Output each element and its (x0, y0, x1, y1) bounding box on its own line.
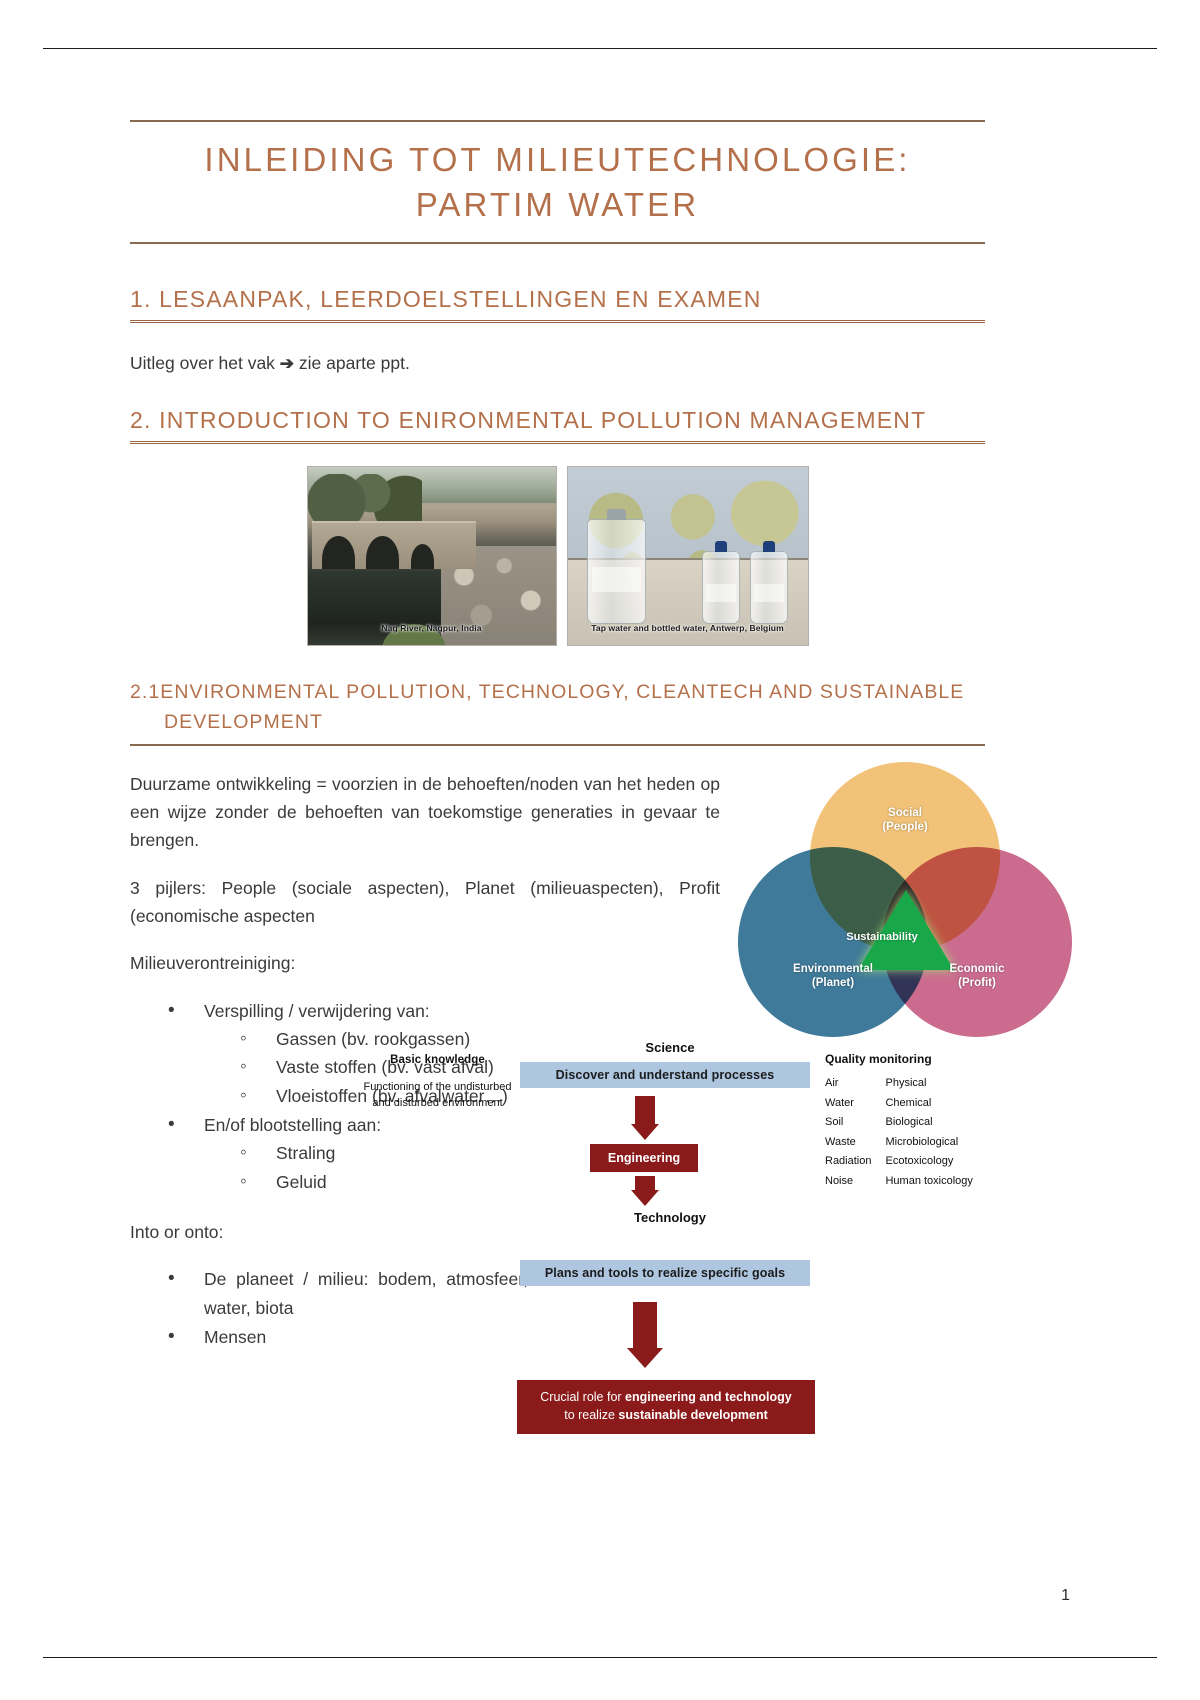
venn-label-social: Social (People) (848, 806, 962, 836)
figure-river: Nag River, Nagpur, India (307, 466, 557, 646)
table-cell-discipline: Microbiological (885, 1134, 986, 1154)
heading-section-2-1-line-2: DEVELOPMENT (130, 708, 985, 738)
page-title-line-2: PARTIM WATER (130, 183, 985, 228)
page-title: INLEIDING TOT MILIEUTECHNOLOGIE: PARTIM … (130, 138, 985, 228)
paragraph-section-1-post: zie aparte ppt. (294, 353, 410, 373)
table-cell-medium: Soil (825, 1114, 885, 1134)
paragraph-drie-pijlers: 3 pijlers: People (sociale aspecten), Pl… (130, 874, 720, 931)
technology-heading: Technology (600, 1210, 740, 1225)
bridge-arch (322, 536, 355, 569)
crucial-role-text-2: to realize (564, 1408, 618, 1422)
table-row: Water Chemical (825, 1095, 987, 1115)
venn-label-economic: Economic (Profit) (912, 962, 1042, 992)
table-cell-discipline: Chemical (885, 1095, 986, 1115)
heading-section-2-1-number: 2.1 (130, 681, 160, 703)
bridge-arch (366, 536, 399, 569)
table-cell-medium: Radiation (825, 1153, 885, 1173)
figure-bottles: Tap water and bottled water, Antwerp, Be… (567, 466, 809, 646)
document-page: INLEIDING TOT MILIEUTECHNOLOGIE: PARTIM … (0, 0, 1200, 1700)
heading-section-2-1: 2.1ENVIRONMENTAL POLLUTION, TECHNOLOGY, … (130, 678, 985, 745)
crucial-role-bold-2: sustainable development (618, 1408, 767, 1422)
table-cell-medium: Water (825, 1095, 885, 1115)
page-title-line-1: INLEIDING TOT MILIEUTECHNOLOGIE: (130, 138, 985, 183)
plastic-bottle (702, 551, 740, 624)
bottles-photo (568, 467, 808, 645)
table-row: Soil Biological (825, 1114, 987, 1134)
page-number: 1 (1061, 1587, 1070, 1605)
crucial-role-bold-1: engineering and technology (625, 1390, 792, 1404)
figure-caption-river: Nag River, Nagpur, India (308, 623, 556, 633)
quality-monitoring-body: Air Physical Water Chemical Soil Biologi… (825, 1075, 987, 1192)
venn-label-environmental-line2: (Planet) (754, 976, 912, 991)
right-arrow-icon: ➔ (280, 354, 294, 373)
heading-section-2: 2. INTRODUCTION TO ENIRONMENTAL POLLUTIO… (130, 407, 985, 444)
page-header-rule (43, 48, 1157, 49)
arrow-head (631, 1124, 659, 1140)
table-cell-medium: Noise (825, 1173, 885, 1193)
arrow-head (631, 1190, 659, 1206)
table-cell-discipline: Human toxicology (885, 1173, 986, 1193)
science-technology-flow-diagram: Basic knowledge Functioning of the undis… (355, 1040, 975, 1440)
bridge-arch (411, 544, 434, 569)
document-title-block: INLEIDING TOT MILIEUTECHNOLOGIE: PARTIM … (130, 120, 985, 244)
bottle-cap (607, 509, 625, 520)
bottle-label (754, 584, 784, 601)
arrow-head (627, 1348, 663, 1368)
venn-diagram-sustainability: Social (People) Environmental (Planet) E… (730, 762, 1080, 1037)
venn-label-environmental: Environmental (Planet) (754, 962, 912, 992)
table-row: Waste Microbiological (825, 1134, 987, 1154)
bottle-cap (715, 541, 727, 552)
arrow-shaft (635, 1096, 655, 1126)
basic-knowledge-heading: Basic knowledge (355, 1054, 520, 1066)
technology-plans-box: Plans and tools to realize specific goal… (520, 1260, 810, 1286)
bottle-cap (763, 541, 775, 552)
page-footer-rule (43, 1657, 1157, 1658)
table-cell-medium: Air (825, 1075, 885, 1095)
figure-caption-bottles: Tap water and bottled water, Antwerp, Be… (568, 623, 808, 633)
arrow-shaft (633, 1302, 657, 1352)
venn-label-economic-line2: (Profit) (912, 976, 1042, 991)
table-cell-medium: Waste (825, 1134, 885, 1154)
table-row: Noise Human toxicology (825, 1173, 987, 1193)
heading-section-2-1-line-1: ENVIRONMENTAL POLLUTION, TECHNOLOGY, CLE… (160, 681, 964, 703)
quality-monitoring-heading: Quality monitoring (825, 1052, 985, 1066)
paragraph-duurzame-ontwikkeling: Duurzame ontwikkeling = voorzien in de b… (130, 770, 720, 855)
figures-row: Nag River, Nagpur, India (130, 466, 985, 646)
table-cell-discipline: Biological (885, 1114, 986, 1134)
paragraph-section-1-pre: Uitleg over het vak (130, 353, 280, 373)
science-heading: Science (605, 1040, 735, 1055)
plastic-bottle (750, 551, 788, 624)
table-row: Radiation Ecotoxicology (825, 1153, 987, 1173)
venn-label-economic-line1: Economic (912, 962, 1042, 977)
basic-knowledge-description: Functioning of the undisturbed and distu… (355, 1080, 520, 1112)
bottle-label (592, 567, 640, 592)
engineering-box: Engineering (590, 1144, 698, 1172)
quality-monitoring-grid: Air Physical Water Chemical Soil Biologi… (825, 1075, 987, 1192)
crucial-role-box: Crucial role for engineering and technol… (517, 1380, 815, 1434)
paragraph-milieuverontreiniging: Milieuverontreiniging: (130, 949, 720, 977)
river-photo (308, 467, 556, 645)
basic-knowledge-column: Basic knowledge Functioning of the undis… (355, 1054, 520, 1112)
heading-section-1: 1. LESAANPAK, LEERDOELSTELLINGEN EN EXAM… (130, 286, 985, 323)
table-cell-discipline: Physical (885, 1075, 986, 1095)
bottle-label (706, 584, 736, 601)
quality-monitoring-table: Quality monitoring Air Physical Water Ch… (825, 1052, 985, 1192)
venn-label-environmental-line1: Environmental (754, 962, 912, 977)
table-cell-discipline: Ecotoxicology (885, 1153, 986, 1173)
science-process-box: Discover and understand processes (520, 1062, 810, 1088)
table-row: Air Physical (825, 1075, 987, 1095)
venn-label-social-line1: Social (848, 806, 962, 821)
paragraph-section-1: Uitleg over het vak ➔ zie aparte ppt. (130, 349, 985, 378)
river-trees (308, 474, 422, 520)
crucial-role-text-1: Crucial role for (540, 1390, 625, 1404)
venn-label-sustainability: Sustainability (836, 930, 928, 944)
list-item-label: Verspilling / verwijdering van: (204, 1001, 430, 1021)
river-bridge (312, 521, 476, 569)
venn-label-social-line2: (People) (848, 820, 962, 835)
glass-bottle (587, 519, 647, 624)
